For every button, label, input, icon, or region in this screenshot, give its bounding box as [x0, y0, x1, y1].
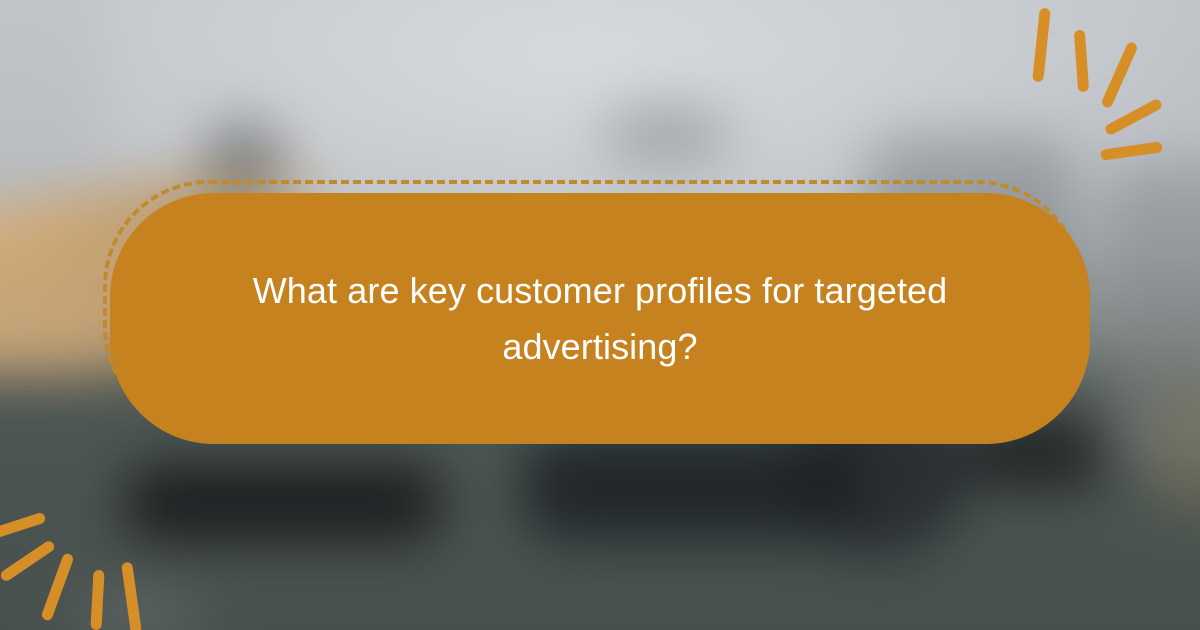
background-object-blur: [1154, 375, 1200, 510]
background-object-blur: [521, 435, 864, 540]
background-object-blur: [600, 105, 732, 165]
question-card: What are key customer profiles for targe…: [110, 193, 1090, 444]
question-card-graphic: What are key customer profiles for targe…: [0, 0, 1200, 630]
background-object-blur: [125, 465, 442, 540]
question-text: What are key customer profiles for targe…: [210, 263, 990, 375]
